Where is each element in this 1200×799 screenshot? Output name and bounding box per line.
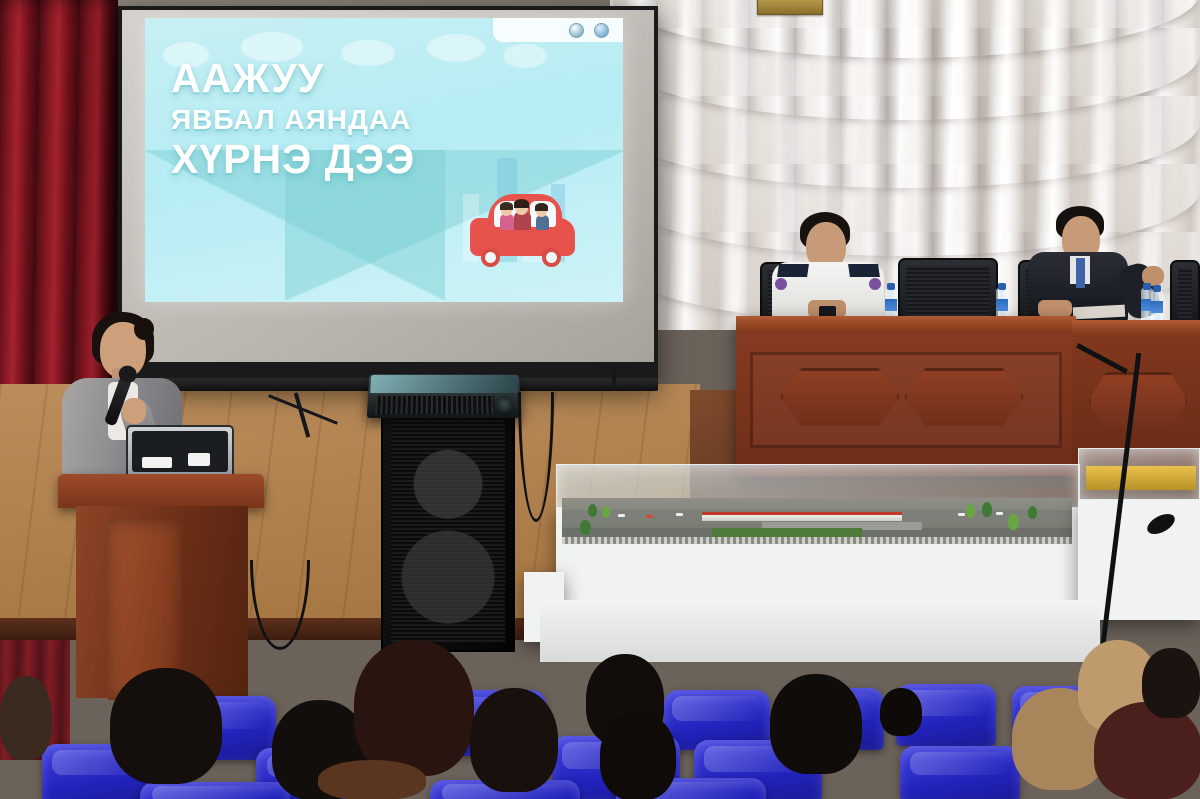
gold-scale-model: [1086, 466, 1196, 490]
screen-tripod-leg-far: [612, 368, 616, 390]
audience-member: [110, 668, 222, 784]
presenter-hair-bun: [134, 318, 154, 340]
water-bottle-4: [1151, 290, 1163, 324]
slide-title: ААЖУУ ЯВБАЛ АЯНДАА ХҮРНЭ ДЭЭ: [171, 58, 501, 180]
cartoon-car-illustration: [470, 190, 580, 274]
road-bridge-diorama: [562, 498, 1072, 544]
audience-member: [0, 676, 52, 760]
audience-member: [354, 640, 474, 776]
slide-title-line1: ААЖУУ: [171, 58, 501, 99]
pa-loudspeaker: [381, 400, 515, 652]
emblem-logo-icon: [569, 23, 584, 38]
slide-logos: [569, 23, 609, 38]
slide-title-line3: ХҮРНЭ ДЭЭ: [171, 139, 501, 180]
projection-screen-surface: ААЖУУ ЯВБАЛ АЯНДАА ХҮРНЭ ДЭЭ: [122, 10, 654, 362]
theater-seat[interactable]: [900, 746, 1020, 799]
audience-member: [1142, 648, 1200, 718]
podium-top: [58, 474, 264, 508]
audience-member: [318, 760, 426, 799]
presentation-hall-photo: ААЖУУ ЯВБАЛ АЯНДАА ХҮРНЭ ДЭЭ: [0, 0, 1200, 799]
gold-wall-plaque: [757, 0, 823, 15]
video-projector: [367, 375, 521, 418]
audience-member: [600, 712, 676, 799]
presentation-slide: ААЖУУ ЯВБАЛ АЯНДАА ХҮРНЭ ДЭЭ: [145, 18, 623, 302]
panel-table: [736, 316, 1076, 476]
audience-member: [770, 674, 862, 774]
audience-member: [880, 688, 922, 736]
presenter-laptop: [126, 425, 234, 478]
audience-seating: [0, 640, 1200, 799]
projector-lens-icon: [496, 396, 513, 412]
projection-screen: ААЖУУ ЯВБАЛ АЯНДАА ХҮРНЭ ДЭЭ: [118, 6, 658, 384]
theater-seat[interactable]: [140, 782, 290, 799]
slide-title-line2: ЯВБАЛ АЯНДАА: [171, 106, 501, 134]
audience-member: [470, 688, 558, 792]
globe-logo-icon: [594, 23, 609, 38]
presenter-hand: [122, 398, 146, 424]
